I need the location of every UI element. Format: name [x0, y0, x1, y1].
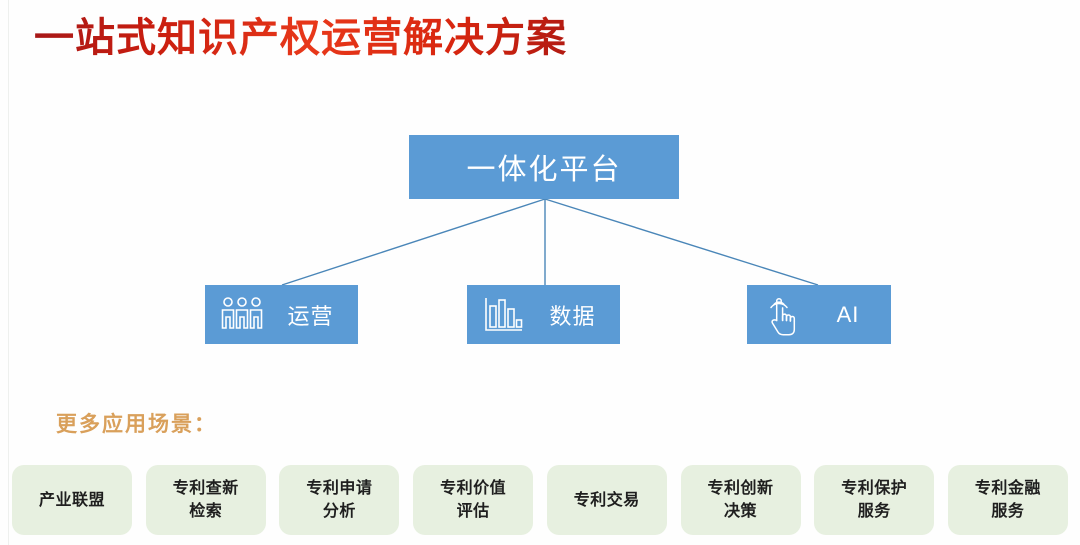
scenario-chip[interactable]: 专利申请 分析 [279, 465, 399, 535]
node-data-label: 数据 [539, 299, 620, 331]
node-integrated-platform-label: 一体化平台 [466, 146, 621, 188]
node-operations[interactable]: 运营 [205, 285, 358, 344]
scenario-chip[interactable]: 专利创新 决策 [681, 465, 801, 535]
node-integrated-platform[interactable]: 一体化平台 [409, 135, 679, 199]
architecture-diagram: 一体化平台 运营 [0, 0, 1080, 400]
touch-hand-icon [759, 293, 809, 337]
scenario-chip[interactable]: 专利查新 检索 [146, 465, 266, 535]
bar-chart-icon [479, 293, 529, 337]
more-scenarios-heading: 更多应用场景： [56, 408, 217, 438]
three-people-icon [217, 293, 267, 337]
scenario-chip[interactable]: 专利交易 [547, 465, 667, 535]
node-operations-label: 运营 [277, 299, 358, 331]
scenario-chip[interactable]: 产业联盟 [12, 465, 132, 535]
node-ai-label: AI [819, 302, 891, 328]
scenario-chip[interactable]: 专利价值 评估 [413, 465, 533, 535]
scenario-chip-row: 产业联盟 专利查新 检索 专利申请 分析 专利价值 评估 专利交易 专利创新 决… [12, 465, 1068, 535]
node-data[interactable]: 数据 [467, 285, 620, 344]
slide-canvas: 一站式知识产权运营解决方案 一体化平台 [0, 0, 1080, 545]
scenario-chip[interactable]: 专利保护 服务 [814, 465, 934, 535]
scenario-chip[interactable]: 专利金融 服务 [948, 465, 1068, 535]
node-ai[interactable]: AI [747, 285, 891, 344]
